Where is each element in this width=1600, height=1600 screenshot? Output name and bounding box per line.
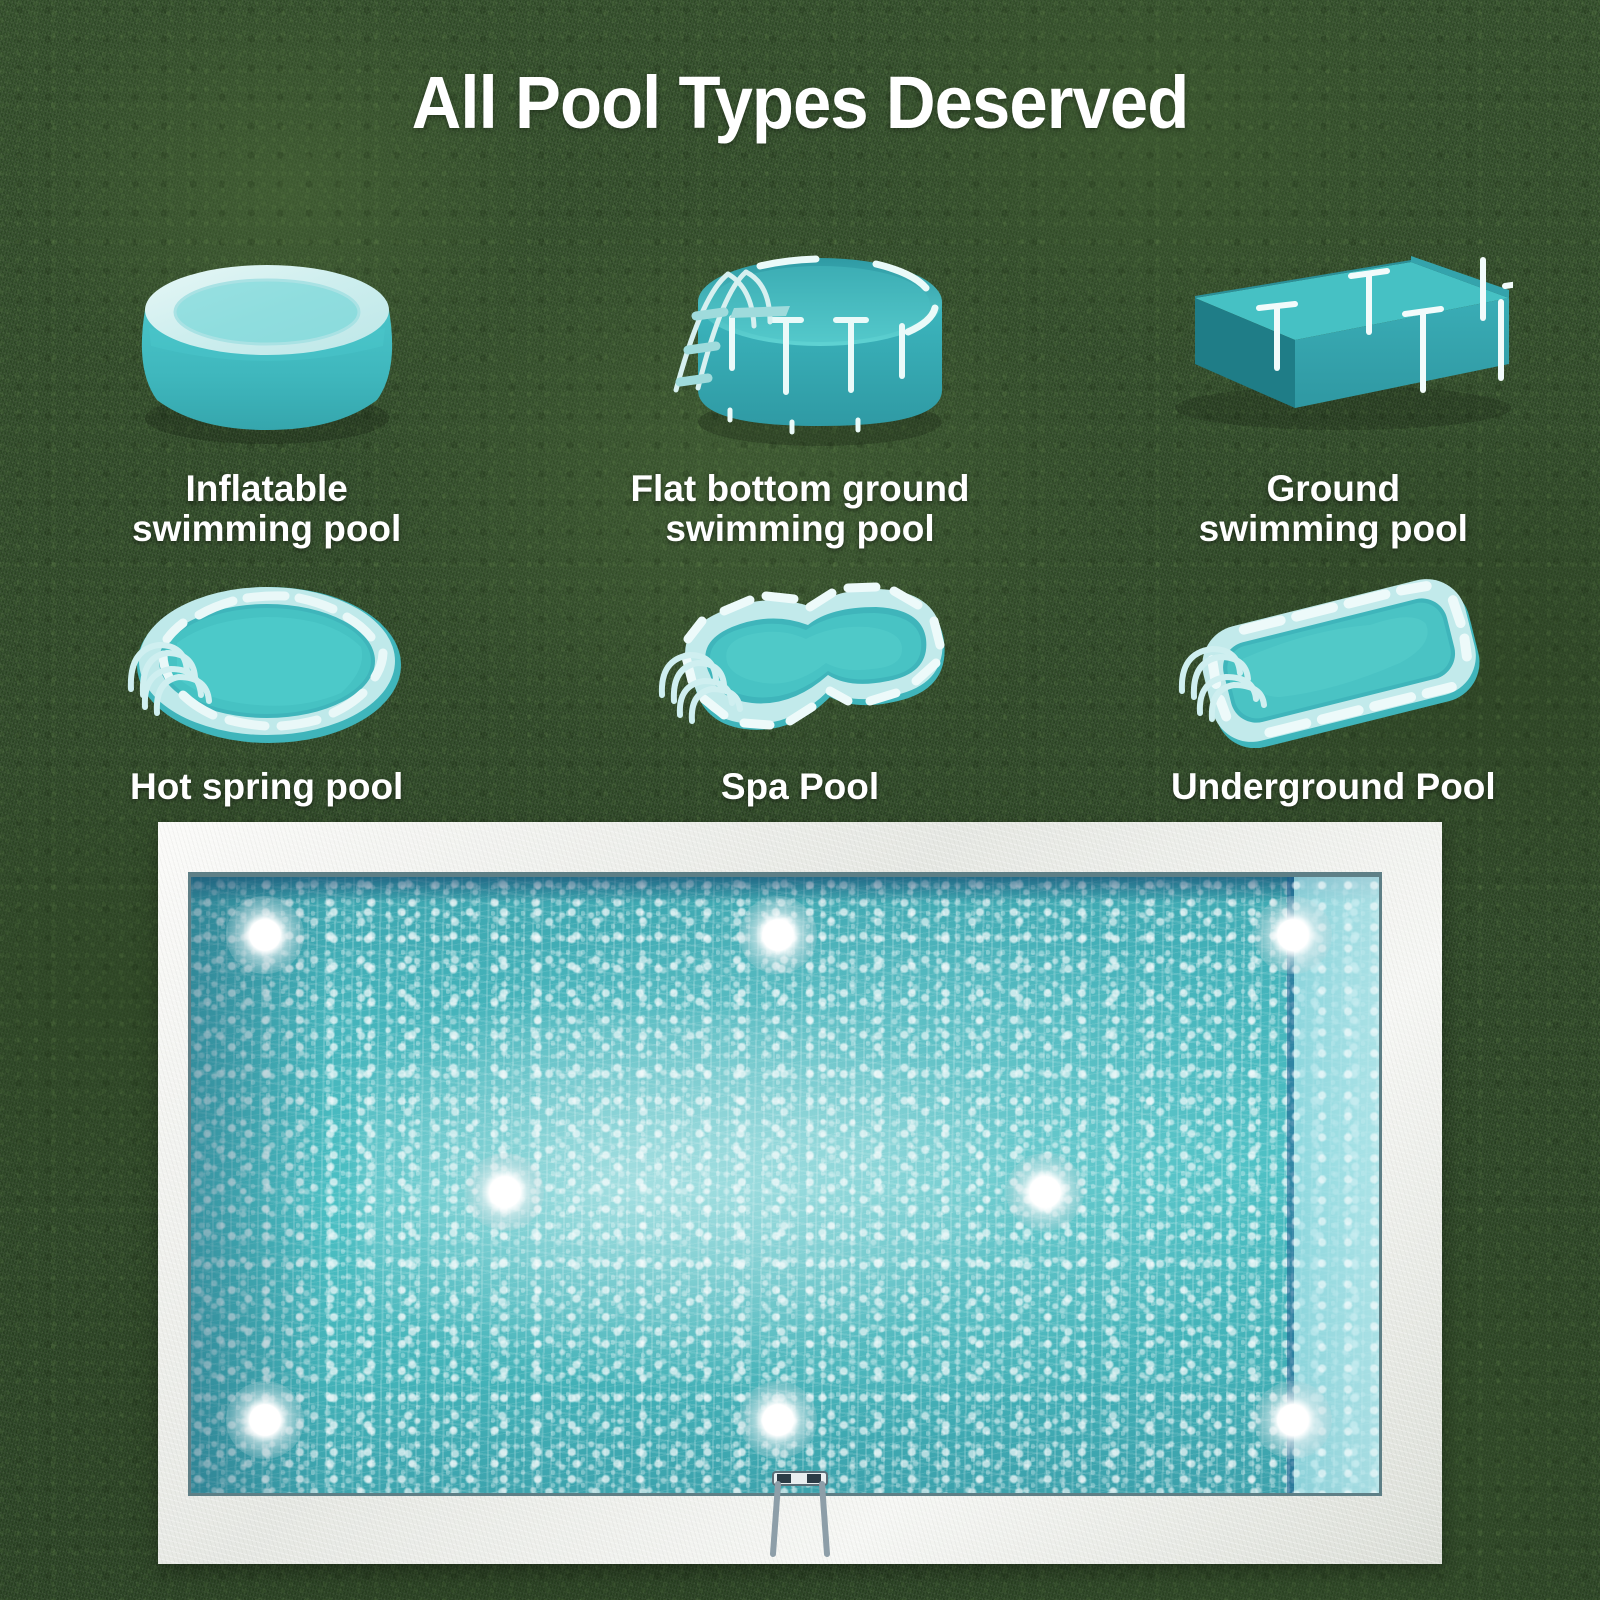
label-line-1: Ground: [1199, 469, 1468, 509]
flat-bottom-round-pool-with-ladder-icon: [640, 250, 960, 455]
pool-type-spa[interactable]: Spa Pool: [533, 573, 1066, 807]
pool-light-5: [1006, 1153, 1084, 1231]
label-line-1: Flat bottom ground: [630, 469, 969, 509]
pool-types-grid: Inflatable swimming pool: [0, 250, 1600, 807]
sun-glare: [357, 1013, 1046, 1395]
oval-inground-pool-icon: [117, 573, 417, 753]
pool-type-label: Underground Pool: [1171, 767, 1496, 807]
pool-light-1: [226, 896, 304, 974]
pool-types-row-1: Inflatable swimming pool: [0, 250, 1600, 549]
pool-type-label: Hot spring pool: [130, 767, 403, 807]
kidney-shaped-pool-icon: [640, 573, 960, 753]
pool-type-hot-spring[interactable]: Hot spring pool: [0, 573, 533, 807]
rectangular-frame-pool-icon: [1153, 250, 1513, 455]
page-title: All Pool Types Deserved: [56, 60, 1544, 145]
rectangular-inground-pool-icon: [1168, 573, 1498, 753]
label-line-1: Hot spring pool: [130, 767, 403, 807]
pool-type-flat-bottom-ground[interactable]: Flat bottom ground swimming pool: [533, 250, 1066, 549]
label-line-2: swimming pool: [630, 509, 969, 549]
pool-light-6: [226, 1381, 304, 1459]
label-line-2: swimming pool: [132, 509, 401, 549]
pool-light-2: [739, 896, 817, 974]
pool-type-underground[interactable]: Underground Pool: [1067, 573, 1600, 807]
pool-type-label: Flat bottom ground swimming pool: [630, 469, 969, 549]
label-line-1: Spa Pool: [721, 767, 879, 807]
label-line-1: Underground Pool: [1171, 767, 1496, 807]
pool-light-8: [1254, 1381, 1332, 1459]
pool-type-label: Inflatable swimming pool: [132, 469, 401, 549]
pool-light-4: [466, 1153, 544, 1231]
pool-type-ground[interactable]: Ground swimming pool: [1067, 250, 1600, 549]
pool-light-7: [739, 1381, 817, 1459]
pool-light-3: [1254, 896, 1332, 974]
pool-type-label: Spa Pool: [721, 767, 879, 807]
label-line-1: Inflatable: [132, 469, 401, 509]
label-line-2: swimming pool: [1199, 509, 1468, 549]
pool-handrail-ladder[interactable]: [745, 1468, 855, 1564]
pool-photo: [158, 822, 1442, 1564]
inflatable-round-pool-icon: [117, 250, 417, 455]
pool-type-label: Ground swimming pool: [1199, 469, 1468, 549]
pool-types-row-2: Hot spring pool: [0, 573, 1600, 807]
pool-type-inflatable[interactable]: Inflatable swimming pool: [0, 250, 533, 549]
